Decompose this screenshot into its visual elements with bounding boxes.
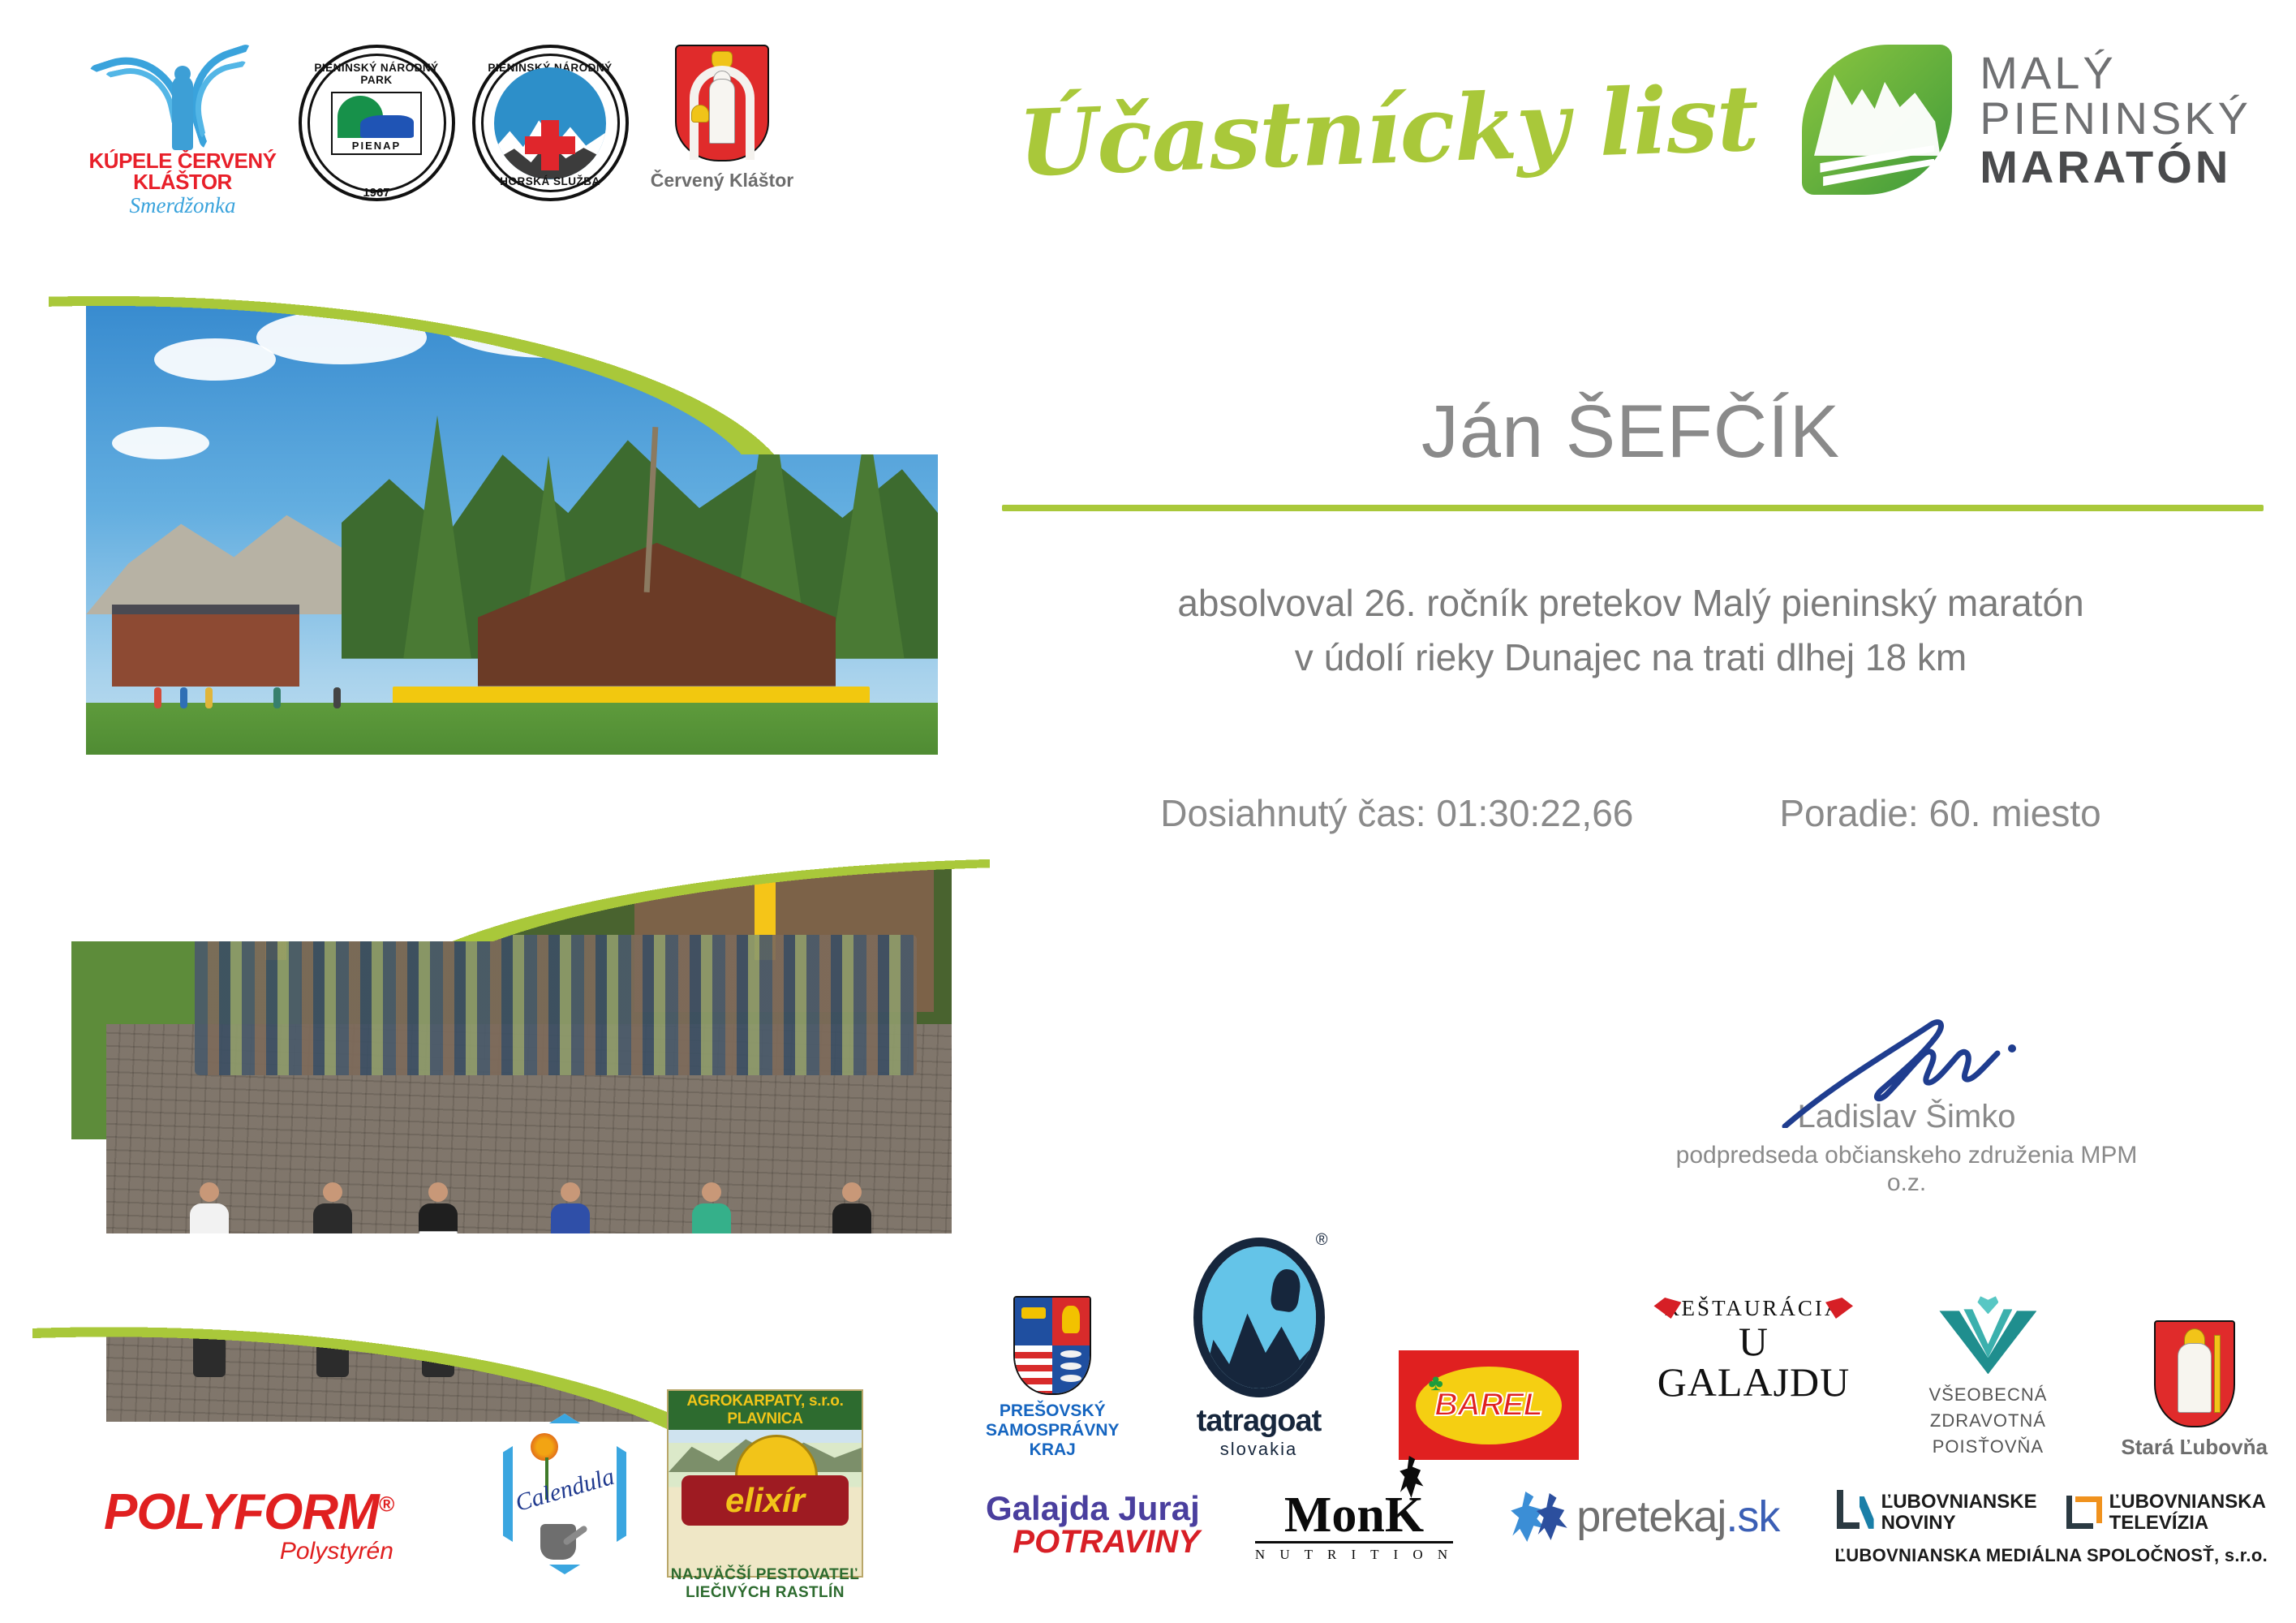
ln-line1: ĽUBOVNIANSKE [1881, 1492, 2037, 1513]
finish-time: Dosiahnutý čas: 01:30:22,66 [1160, 791, 1633, 835]
photo-collage: MALÝ PIENINSKÝ MARATÓN 209 74 249 147 [71, 261, 952, 1422]
vszp-line3: POISŤOVŇA [1928, 1434, 2047, 1460]
pretekaj-tld: .sk [1726, 1492, 1779, 1541]
body-line-2: v údolí rieky Dunajec na trati dlhej 18 … [998, 631, 2264, 685]
ug-line2: U GALAJDU [1652, 1321, 1855, 1402]
pretekaj-name: pretekaj [1576, 1492, 1726, 1541]
lt-line1: ĽUBOVNIANSKA [2109, 1492, 2266, 1513]
vszp-line1: VŠEOBECNÁ [1928, 1382, 2047, 1408]
elixir-bottom-line1: NAJVÄČŠÍ PESTOVATEĽ [669, 1566, 862, 1584]
vszp-chevron-icon [1939, 1296, 2036, 1374]
runner: 74 [309, 1182, 356, 1377]
bib-number: 249 [419, 1231, 458, 1254]
lubovnianske-noviny-icon [1837, 1496, 1874, 1529]
sponsor-pretekaj-sk[interactable]: pretekaj.sk [1508, 1492, 1779, 1542]
sponsor-agrokarpaty-elixir: AGROKARPATY, s.r.o. PLAVNICA elixír NAJV… [667, 1389, 863, 1578]
hs-arc-top: PIENINSKÝ NÁRODNÝ PARK [475, 62, 626, 86]
elixir-top-banner: AGROKARPATY, s.r.o. PLAVNICA [669, 1391, 862, 1430]
logo-kupele-cerveny-klastor: KÚPELE ČERVENÝ KLÁŠTOR Smerdžonka [81, 45, 284, 218]
arch-text-line2: PIENINSKÝ MARATÓN [371, 871, 548, 888]
signature-block: Ladislav Šimko podpredseda občianskeho z… [1655, 1006, 2158, 1197]
ck-label: Červený Kláštor [649, 170, 795, 192]
sponsor-vseobecna-zdravotna-poistovna: VŠEOBECNÁ ZDRAVOTNÁ POISŤOVŇA [1928, 1296, 2047, 1460]
monk-sub: N U T R I T I O N [1255, 1547, 1453, 1563]
signatory-role: podpredseda občianskeho združenia MPM o.… [1655, 1142, 2158, 1197]
clover-icon: ♣ [1429, 1371, 1450, 1393]
registered-trademark-icon: ® [379, 1492, 393, 1516]
sponsor-monk-nutrition: MonK N U T R I T I O N [1255, 1492, 1453, 1563]
bib-number: 74 [317, 1241, 347, 1264]
accent-divider [1002, 505, 2264, 511]
barel-logo-icon: ♣ BAREL [1399, 1350, 1579, 1460]
logo-pienap: PIENINSKÝ NÁRODNÝ PARK PIENAP 1967 [295, 45, 458, 201]
gj-line2: POTRAVINY [986, 1526, 1200, 1558]
vszp-line2: ZDRAVOTNÁ [1928, 1408, 2047, 1434]
sponsor-polyform: POLYFORM® Polystyrén [104, 1483, 393, 1565]
arch-text-line1: MALÝ [424, 832, 471, 849]
spa-angel-icon [81, 45, 284, 150]
sponsor-barel: ♣ BAREL [1399, 1350, 1579, 1460]
hs-arc-bottom: HORSKÁ SLUŽBA [475, 175, 626, 187]
logo-horska-sluzba: PIENINSKÝ NÁRODNÝ PARK HORSKÁ SLUŽBA [469, 45, 631, 201]
runner: 234 [828, 1182, 875, 1377]
mpm-line1: MALÝ [1980, 50, 2251, 96]
organizer-logo-strip: KÚPELE ČERVENÝ KLÁŠTOR Smerdžonka PIENIN… [81, 45, 957, 231]
slv-label: Stará Ľubovňa [2121, 1436, 2268, 1460]
psk-line3: KRAJ [986, 1440, 1120, 1460]
ln-line2: NOVINY [1881, 1513, 2037, 1534]
elixir-bottom-line2: LIEČIVÝCH RASTLÍN [669, 1584, 862, 1602]
runner: 147 [547, 1182, 594, 1377]
media-footer: ĽUBOVNIANSKA MEDIÁLNA SPOLOČNOSŤ, s.r.o. [1834, 1545, 2268, 1566]
result-row: Dosiahnutý čas: 01:30:22,66 Poradie: 60.… [998, 791, 2264, 835]
sponsor-row-primary: PREŠOVSKÝ SAMOSPRÁVNY KRAJ ® tatragoat s… [986, 1238, 2268, 1460]
pienap-arc-top: PIENINSKÝ NÁRODNÝ PARK [302, 62, 452, 86]
handwritten-signature-icon [1655, 1006, 2158, 1112]
logo-kcs-line2: Smerdžonka [81, 194, 284, 218]
tatragoat-mountain-icon [1193, 1238, 1325, 1397]
barel-name: BAREL [1434, 1387, 1542, 1423]
psk-line2: SAMOSPRÁVNY [986, 1421, 1120, 1440]
lubovnianska-televizia-icon [2066, 1496, 2102, 1529]
elixir-ribbon: elixír [681, 1475, 849, 1526]
red-cross-icon [541, 120, 559, 170]
recipient-name: Ján ŠEFČÍK [998, 390, 2264, 475]
gj-line1: Galajda Juraj [986, 1492, 1200, 1526]
stara-lubovna-coat-of-arms-icon [2154, 1320, 2235, 1427]
photo-race-start: MALÝ PIENINSKÝ MARATÓN 209 74 249 147 [71, 781, 952, 1422]
runner: 31 [688, 1182, 735, 1377]
psk-line1: PREŠOVSKÝ [986, 1401, 1120, 1421]
psk-coat-of-arms-icon [1013, 1296, 1091, 1395]
elixir-brand: elixír [725, 1481, 805, 1520]
polyform-sub: Polystyrén [104, 1538, 393, 1565]
bib-number: 31 [696, 1252, 726, 1275]
polyform-name: POLYFORM [104, 1484, 379, 1540]
photo-venue [86, 261, 938, 813]
sponsor-row-secondary: Galajda Juraj POTRAVINY MonK N U T R I T… [986, 1492, 2268, 1566]
pienap-year: 1967 [302, 186, 452, 200]
page-title: Účastnícky list [1017, 65, 1766, 197]
sponsor-tatragoat: ® tatragoat slovakia [1193, 1238, 1325, 1460]
bib-number: 234 [832, 1238, 871, 1260]
logo-obec-cerveny-klastor: Červený Kláštor [649, 45, 795, 192]
marigold-flower-icon [531, 1433, 558, 1461]
pienap-center-text: PIENAP [333, 140, 420, 152]
bib-number: 147 [551, 1241, 590, 1264]
certificate-body: absolvoval 26. ročník pretekov Malý pien… [998, 576, 2264, 684]
mpm-line3: MARATÓN [1980, 144, 2251, 190]
sponsor-galajda-juraj: Galajda Juraj POTRAVINY [986, 1492, 1200, 1558]
sponsor-presovsky-samospravny-kraj: PREŠOVSKÝ SAMOSPRÁVNY KRAJ [986, 1296, 1120, 1460]
certificate-page: KÚPELE ČERVENÝ KLÁŠTOR Smerdžonka PIENIN… [0, 0, 2296, 1623]
monk-name: MonK [1255, 1492, 1453, 1539]
body-line-1: absolvoval 26. ročník pretekov Malý pien… [998, 576, 2264, 631]
tatragoat-sub: slovakia [1220, 1439, 1297, 1460]
event-logo: MALÝ PIENINSKÝ MARATÓN [1802, 45, 2251, 195]
coat-of-arms-icon [675, 45, 769, 161]
sponsor-calendula: Calendula [503, 1414, 626, 1574]
runner: 249 [415, 1182, 462, 1377]
mpm-line2: PIENINSKÝ [1980, 96, 2251, 141]
mpm-leaf-mountain-icon [1802, 45, 1952, 195]
logo-kcs-line1: KÚPELE ČERVENÝ KLÁŠTOR [81, 150, 284, 192]
finish-place: Poradie: 60. miesto [1779, 791, 2100, 835]
bib-number: 209 [190, 1259, 229, 1281]
runner-icon [1534, 1493, 1570, 1540]
registered-trademark-icon: ® [1316, 1231, 1328, 1250]
sponsor-lubovnianska-medialna-spolocnost: ĽUBOVNIANSKE NOVINY ĽUBOVNIANSKA TELEVÍZ… [1834, 1492, 2268, 1566]
sponsor-u-galajdu: REŠTAURÁCIA U GALAJDU [1652, 1296, 1855, 1460]
pienap-seal-icon: PIENINSKÝ NÁRODNÝ PARK PIENAP 1967 [299, 45, 455, 201]
tatragoat-name: tatragoat [1197, 1404, 1322, 1439]
lt-line2: TELEVÍZIA [2109, 1513, 2266, 1534]
runner: 209 [186, 1182, 233, 1377]
horska-sluzba-seal-icon: PIENINSKÝ NÁRODNÝ PARK HORSKÁ SLUŽBA [472, 45, 629, 201]
ug-line1: REŠTAURÁCIA [1665, 1296, 1843, 1321]
sponsor-stara-lubovna: Stará Ľubovňa [2121, 1320, 2268, 1460]
